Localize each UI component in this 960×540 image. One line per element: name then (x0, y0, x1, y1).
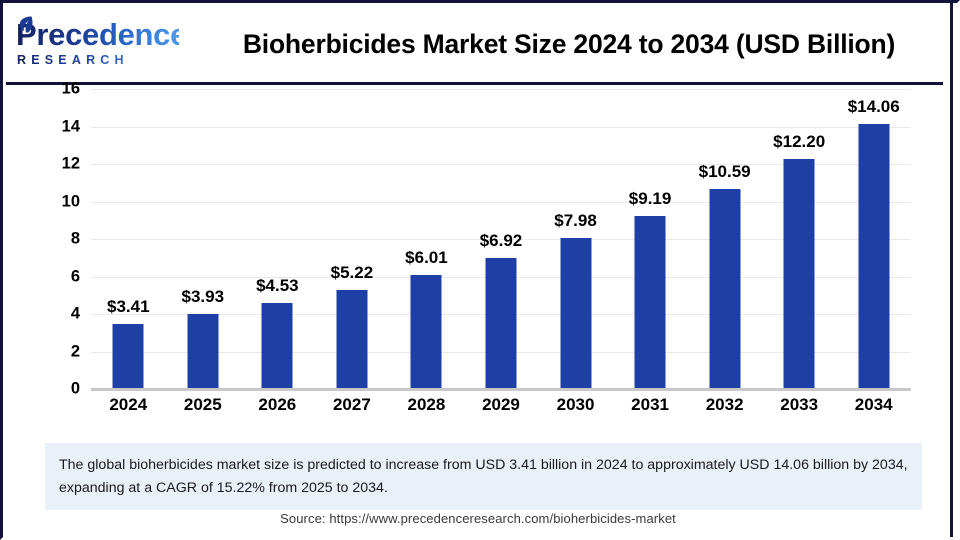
bar-2031[interactable] (635, 216, 666, 388)
bars-group: $3.41$3.93$4.53$5.22$6.01$6.92$7.98$9.19… (91, 89, 911, 389)
bar-slot: $5.22 (315, 88, 390, 388)
bar-2029[interactable] (485, 258, 516, 388)
y-axis-tick-label: 6 (71, 267, 80, 286)
x-axis-tick-label: 2024 (91, 395, 166, 415)
frame-right-border (950, 3, 953, 540)
bar-value-label: $14.06 (848, 97, 900, 117)
bar-slot: $6.92 (464, 88, 539, 388)
header-bar: Precedence RESEARCH Bioherbicides Market… (6, 6, 950, 82)
bar-slot: $4.53 (240, 88, 315, 388)
bar-slot: $10.59 (687, 88, 762, 388)
bar-2027[interactable] (336, 290, 367, 388)
x-axis-tick-label: 2032 (687, 395, 762, 415)
bar-slot: $3.93 (166, 88, 241, 388)
logo-subtext: RESEARCH (14, 53, 179, 67)
bar-value-label: $12.20 (773, 132, 825, 152)
bar-value-label: $3.41 (107, 297, 150, 317)
bar-value-label: $10.59 (699, 162, 751, 182)
x-axis-tick-label: 2034 (836, 395, 911, 415)
bar-value-label: $7.98 (554, 211, 597, 231)
y-axis: 1614121086420 (6, 89, 90, 391)
bar-2030[interactable] (560, 238, 591, 388)
description-panel: The global bioherbicides market size is … (45, 443, 922, 510)
bar-value-label: $9.19 (629, 189, 672, 209)
bar-value-label: $4.53 (256, 276, 299, 296)
chart-page: Precedence RESEARCH Bioherbicides Market… (0, 0, 960, 540)
bar-value-label: $6.92 (480, 231, 523, 251)
bar-2025[interactable] (187, 314, 218, 388)
bar-value-label: $6.01 (405, 248, 448, 268)
bar-slot: $3.41 (91, 88, 166, 388)
bar-slot: $14.06 (836, 88, 911, 388)
y-axis-tick-label: 4 (71, 305, 80, 324)
bar-slot: $12.20 (762, 88, 837, 388)
source-link[interactable]: Source: https://www.precedenceresearch.c… (6, 511, 950, 526)
logo-wordmark-text: Precedence (16, 17, 187, 52)
chart-plot-region: 1614121086420 $3.41$3.93$4.53$5.22$6.01$… (6, 89, 950, 434)
y-axis-tick-label: 2 (71, 342, 80, 361)
x-axis-tick-label: 2028 (389, 395, 464, 415)
logo-wordmark: Precedence (14, 19, 179, 50)
precedence-research-logo[interactable]: Precedence RESEARCH (14, 12, 179, 74)
bar-slot: $7.98 (538, 88, 613, 388)
page-title: Bioherbicides Market Size 2024 to 2034 (… (202, 6, 936, 82)
y-axis-tick-label: 10 (62, 192, 80, 211)
x-axis-tick-label: 2029 (464, 395, 539, 415)
x-axis-tick-label: 2027 (315, 395, 390, 415)
bar-2033[interactable] (784, 159, 815, 388)
y-axis-tick-label: 0 (71, 380, 80, 399)
header-divider (6, 82, 943, 85)
leaf-icon (19, 16, 34, 33)
bar-2024[interactable] (113, 324, 144, 388)
bar-2026[interactable] (262, 303, 293, 388)
bar-2032[interactable] (709, 189, 740, 388)
bar-slot: $9.19 (613, 88, 688, 388)
x-axis-baseline (91, 388, 911, 391)
x-axis-tick-label: 2030 (538, 395, 613, 415)
y-axis-tick-label: 16 (62, 80, 80, 99)
bar-value-label: $3.93 (182, 287, 225, 307)
x-axis-tick-label: 2031 (613, 395, 688, 415)
y-axis-tick-label: 8 (71, 230, 80, 249)
x-axis-tick-label: 2026 (240, 395, 315, 415)
bar-slot: $6.01 (389, 88, 464, 388)
bar-2034[interactable] (858, 124, 889, 388)
bar-2028[interactable] (411, 275, 442, 388)
x-axis-tick-label: 2025 (166, 395, 241, 415)
y-axis-tick-label: 12 (62, 155, 80, 174)
x-axis-tick-label: 2033 (762, 395, 837, 415)
y-axis-tick-label: 14 (62, 117, 80, 136)
bar-value-label: $5.22 (331, 263, 374, 283)
x-axis: 2024202520262027202820292030203120322033… (91, 395, 911, 429)
